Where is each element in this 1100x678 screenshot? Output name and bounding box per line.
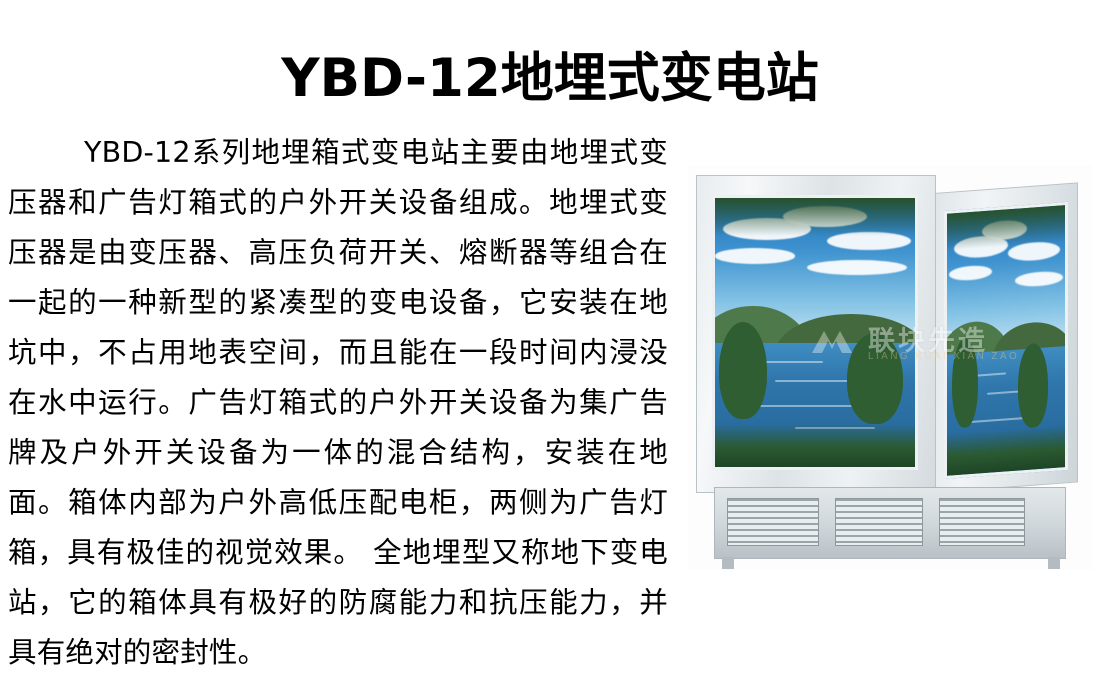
advertising-lightbox-front xyxy=(712,195,918,470)
ventilation-louvre xyxy=(835,498,923,546)
document-page: YBD-12地埋式变电站 YBD-12系列地埋箱式变电站主要由地埋式变压器和广告… xyxy=(0,0,1100,651)
cloud-shape xyxy=(949,265,991,282)
tree-shape xyxy=(1018,343,1049,429)
ventilation-louvre xyxy=(727,498,819,546)
cabinet-leg xyxy=(1048,557,1060,569)
foliage-top xyxy=(715,198,915,236)
foliage-bottom xyxy=(715,424,915,467)
cloud-shape xyxy=(1015,271,1062,288)
body-paragraph: YBD-12系列地埋箱式变电站主要由地埋式变压器和广告灯箱式的户外开关设备组成。… xyxy=(8,128,668,678)
advertising-lightbox-side xyxy=(944,202,1068,479)
tree-shape xyxy=(952,337,978,428)
cabinet-leg xyxy=(722,557,734,569)
ventilation-louvre xyxy=(939,498,1025,546)
foliage-bottom xyxy=(947,425,1065,476)
cloud-shape xyxy=(715,248,795,263)
cabinet-base xyxy=(714,487,1066,559)
cloud-shape xyxy=(807,260,907,275)
page-title: YBD-12地埋式变电站 xyxy=(0,36,1100,112)
tree-shape xyxy=(719,322,767,419)
tree-shape xyxy=(847,333,903,424)
product-photo: 联块先造 LIANG KUAI XIAN ZAO xyxy=(688,165,1092,570)
